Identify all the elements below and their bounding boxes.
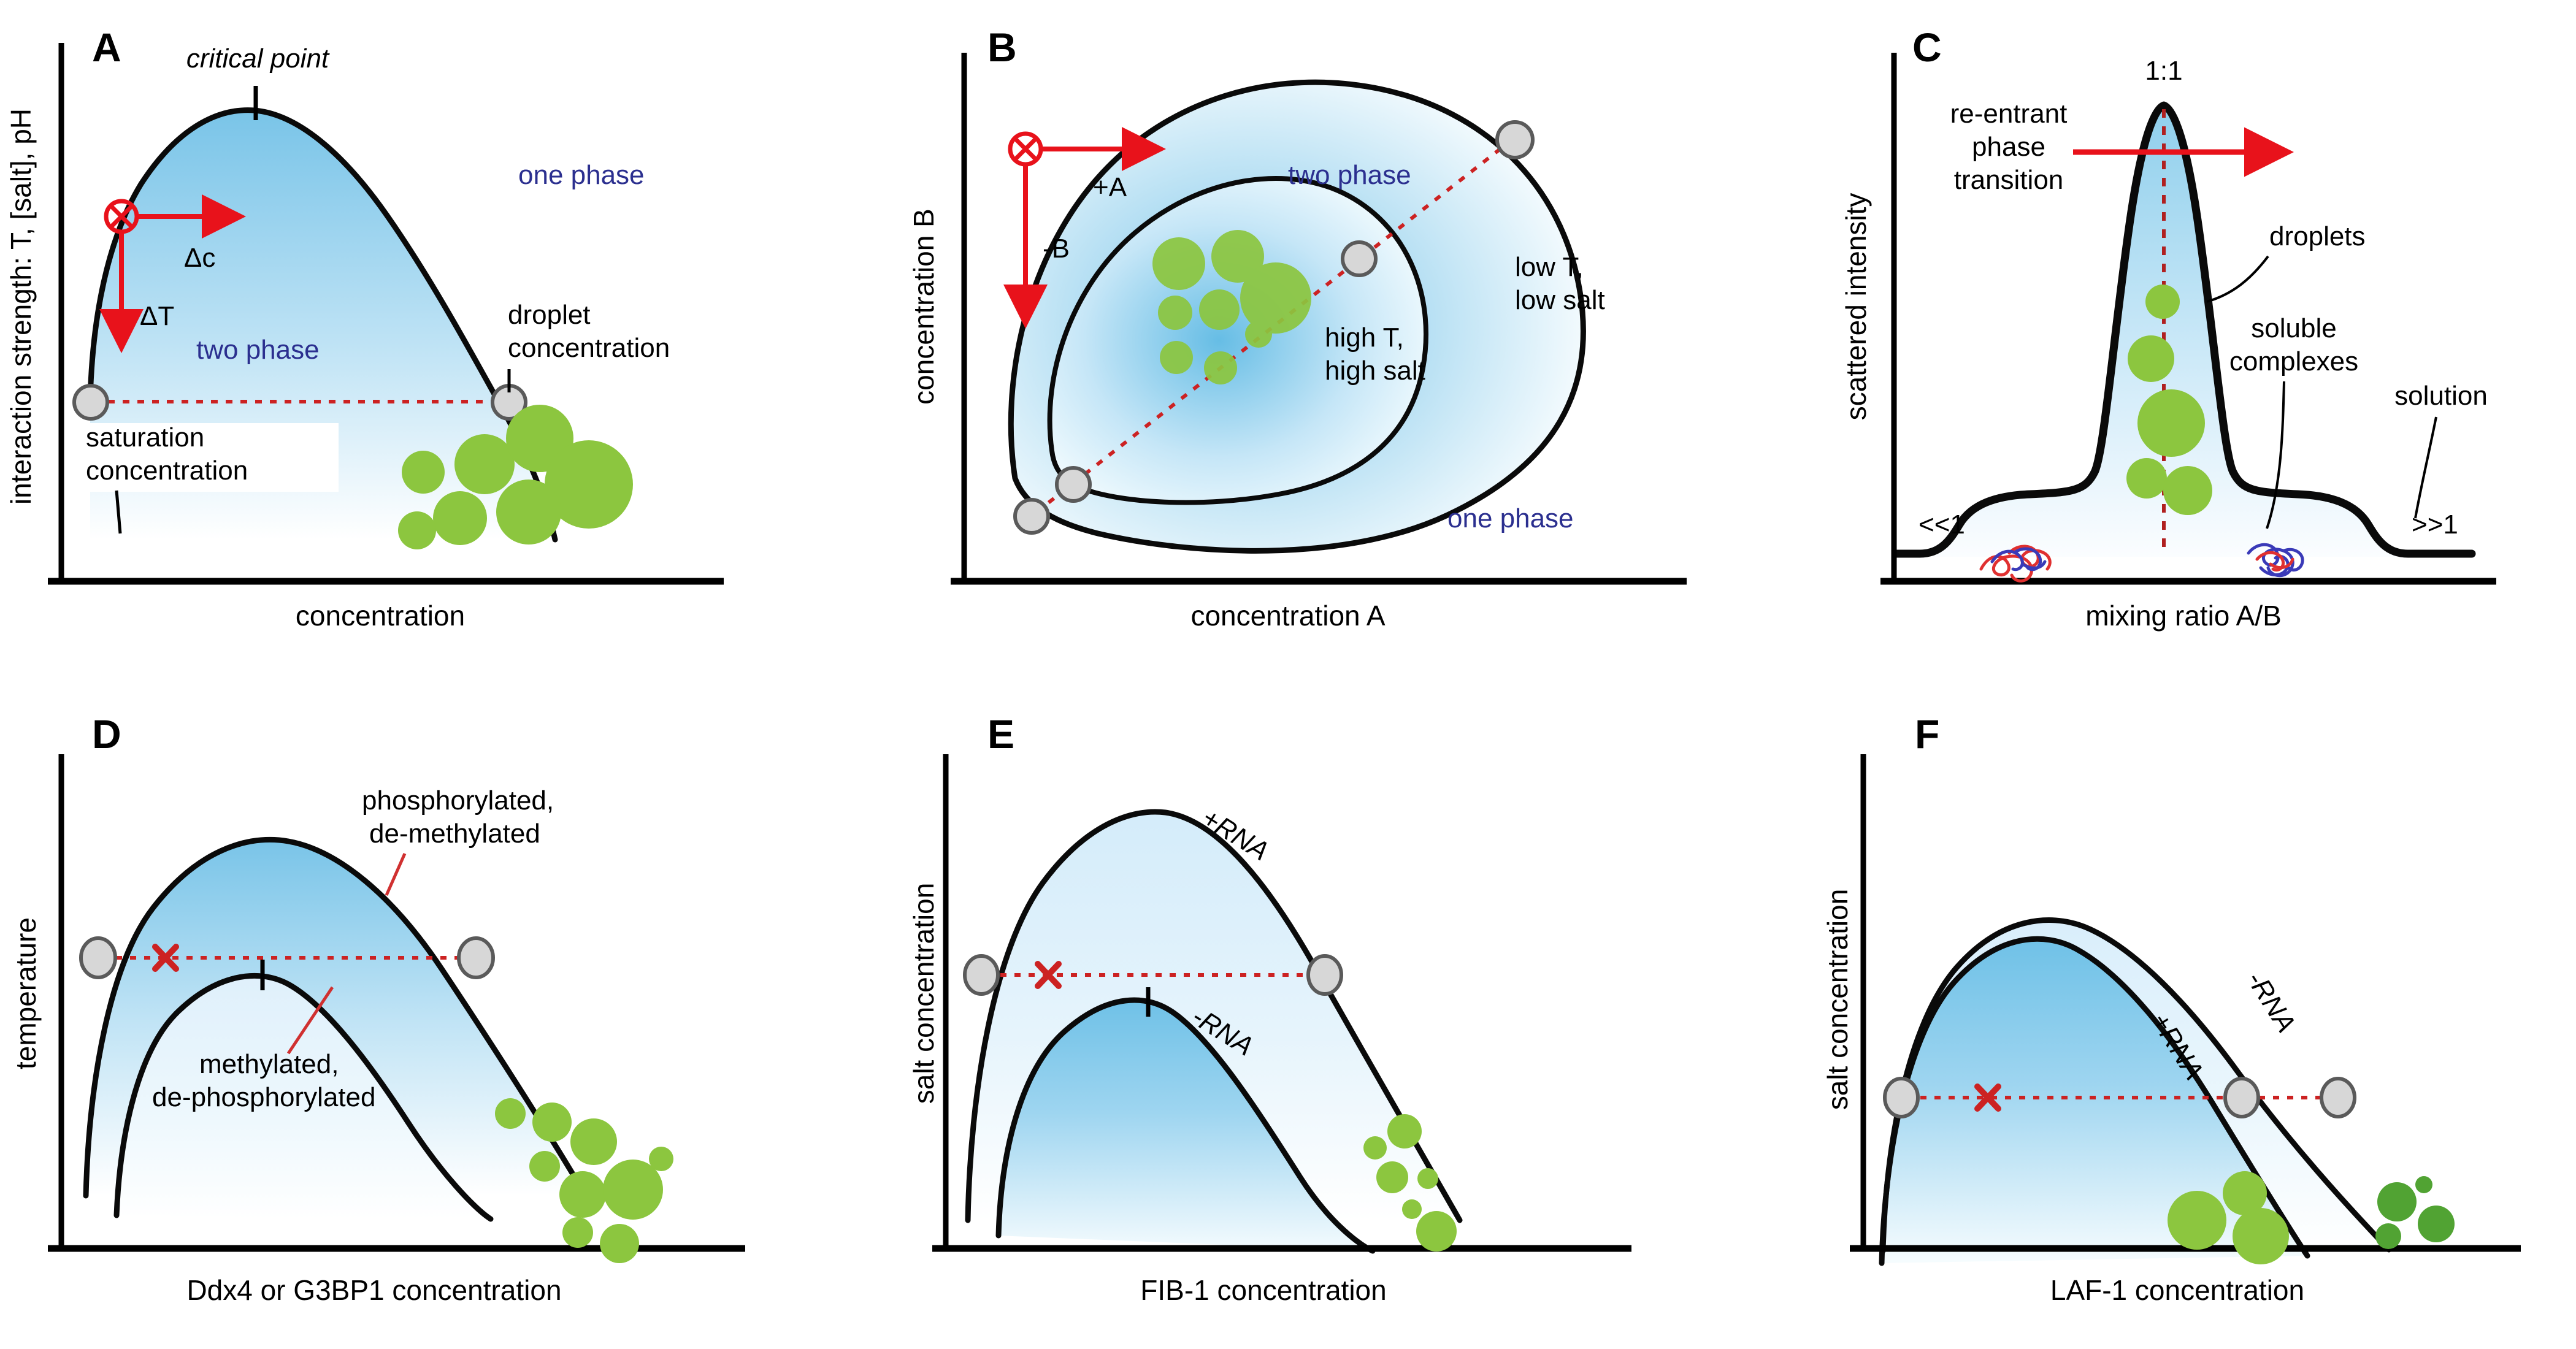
panel-c-reentrant-label-l2: phase <box>1972 132 2045 162</box>
panel-a-two-phase-label: two phase <box>196 335 320 365</box>
panel-c-reentrant-label-l3: transition <box>1954 165 2064 195</box>
panel-d-node-right <box>459 938 493 977</box>
panel-c-reentrant-label-l1: re-entrant <box>1950 99 2068 129</box>
panel-a-delta-t-label: ΔT <box>140 301 174 331</box>
panel-e-x-axis-label: FIB-1 concentration <box>1140 1274 1386 1306</box>
panel-e: salt concentration E +RNA -RNA FIB-1 con… <box>895 681 1779 1349</box>
panel-c-soluble-label-l1: soluble <box>2251 313 2336 343</box>
panel-d-y-axis-label: temperature <box>10 917 42 1069</box>
panel-b-minus-b-label: -B <box>1043 234 1070 264</box>
panel-d: temperature D phosphorylated, de-methyla… <box>0 681 859 1349</box>
panel-a-x-axis-label: concentration <box>296 600 465 632</box>
panel-a-sat-conc-label-l2: concentration <box>86 456 248 486</box>
panel-c-droplets-leader <box>2207 256 2268 302</box>
panel-e-node-right <box>1308 956 1341 994</box>
panel-d-outer-label-l2: de-methylated <box>369 819 540 849</box>
panel-f-droplets-dark <box>2375 1176 2455 1249</box>
panel-a-droplet-conc-label-l2: concentration <box>508 333 670 363</box>
panel-c-droplets-label: droplets <box>2269 221 2366 251</box>
panel-d-inner-label-l1: methylated, <box>199 1049 339 1079</box>
panel-a: interaction strength: T, [salt], pH A cr… <box>0 0 859 674</box>
panel-b-node-outer-high <box>1497 122 1533 158</box>
panel-f-outer-curve-label: -RNA <box>2241 966 2302 1038</box>
panel-c-x-axis-label: mixing ratio A/B <box>2085 600 2282 632</box>
panel-b: concentration B B +A -B two phase one ph… <box>895 0 1779 674</box>
panel-b-one-phase-label: one phase <box>1447 503 1574 533</box>
panel-f-node-right <box>2321 1079 2355 1117</box>
panel-a-letter: A <box>92 25 121 70</box>
panel-b-node-inner-low <box>1057 468 1090 501</box>
panel-b-low-t-label-l2: low salt <box>1515 285 1605 315</box>
panel-f-node-mid <box>2225 1079 2258 1117</box>
panel-b-low-t-label-l1: low T, <box>1515 252 1584 282</box>
panel-a-node-left <box>74 386 107 419</box>
panel-a-y-axis-label: interaction strength: T, [salt], pH <box>5 109 37 505</box>
panel-e-letter: E <box>987 711 1014 757</box>
panel-f-node-left <box>1885 1079 1918 1117</box>
panel-a-critical-point-label: critical point <box>186 44 330 74</box>
panel-c-letter: C <box>1912 25 1942 70</box>
panel-b-two-phase-label: two phase <box>1288 160 1411 190</box>
panel-d-outer-label-l1: phosphorylated, <box>362 785 554 816</box>
panel-c-y-axis-label: scattered intensity <box>1840 193 1872 421</box>
panel-b-y-axis-label: concentration B <box>908 208 940 405</box>
panel-c-peak-ratio-label: 1:1 <box>2145 56 2182 86</box>
panel-c-solution-label: solution <box>2394 381 2488 411</box>
panel-b-high-t-label-l1: high T, <box>1325 323 1404 353</box>
figure-canvas: interaction strength: T, [salt], pH A cr… <box>0 0 2576 1349</box>
panel-c-soluble-label-l2: complexes <box>2229 346 2358 376</box>
panel-b-x-axis-label: concentration A <box>1190 600 1385 632</box>
panel-c-much-less-label: <<1 <box>1919 510 1965 540</box>
panel-d-inner-label-l2: de-phosphorylated <box>152 1082 375 1112</box>
panel-f-y-axis-label: salt concentration <box>1822 889 1853 1110</box>
panel-a-delta-c-label: Δc <box>184 243 215 273</box>
panel-e-y-axis-label: salt concentration <box>908 883 940 1104</box>
panel-d-outer-leader <box>386 854 405 895</box>
panel-f-letter: F <box>1915 711 1939 757</box>
panel-b-node-outer-low <box>1015 500 1048 533</box>
panel-d-x-axis-label: Ddx4 or G3BP1 concentration <box>186 1274 561 1306</box>
panel-a-sat-conc-label-l1: saturation <box>86 422 204 453</box>
panel-a-droplet-conc-label-l1: droplet <box>508 300 591 330</box>
panel-e-node-left <box>965 956 998 994</box>
panel-c-much-greater-label: >>1 <box>2412 510 2458 540</box>
panel-d-letter: D <box>92 711 121 757</box>
panel-a-one-phase-label: one phase <box>518 160 645 190</box>
panel-b-plus-a-label: +A <box>1093 172 1127 202</box>
panel-c-solution-leader <box>2415 417 2436 518</box>
panel-d-node-left <box>81 938 115 977</box>
panel-b-letter: B <box>987 25 1017 70</box>
panel-f: salt concentration F +RNA -RNA LAF-1 con… <box>1809 681 2576 1349</box>
panel-b-high-t-label-l2: high salt <box>1325 356 1425 386</box>
panel-f-x-axis-label: LAF-1 concentration <box>2050 1274 2304 1306</box>
panel-b-start-marker-icon <box>1010 134 1041 164</box>
panel-b-node-inner-high <box>1343 242 1376 275</box>
panel-c: scattered intensity C 1:1 re-entrant pha… <box>1828 0 2576 674</box>
